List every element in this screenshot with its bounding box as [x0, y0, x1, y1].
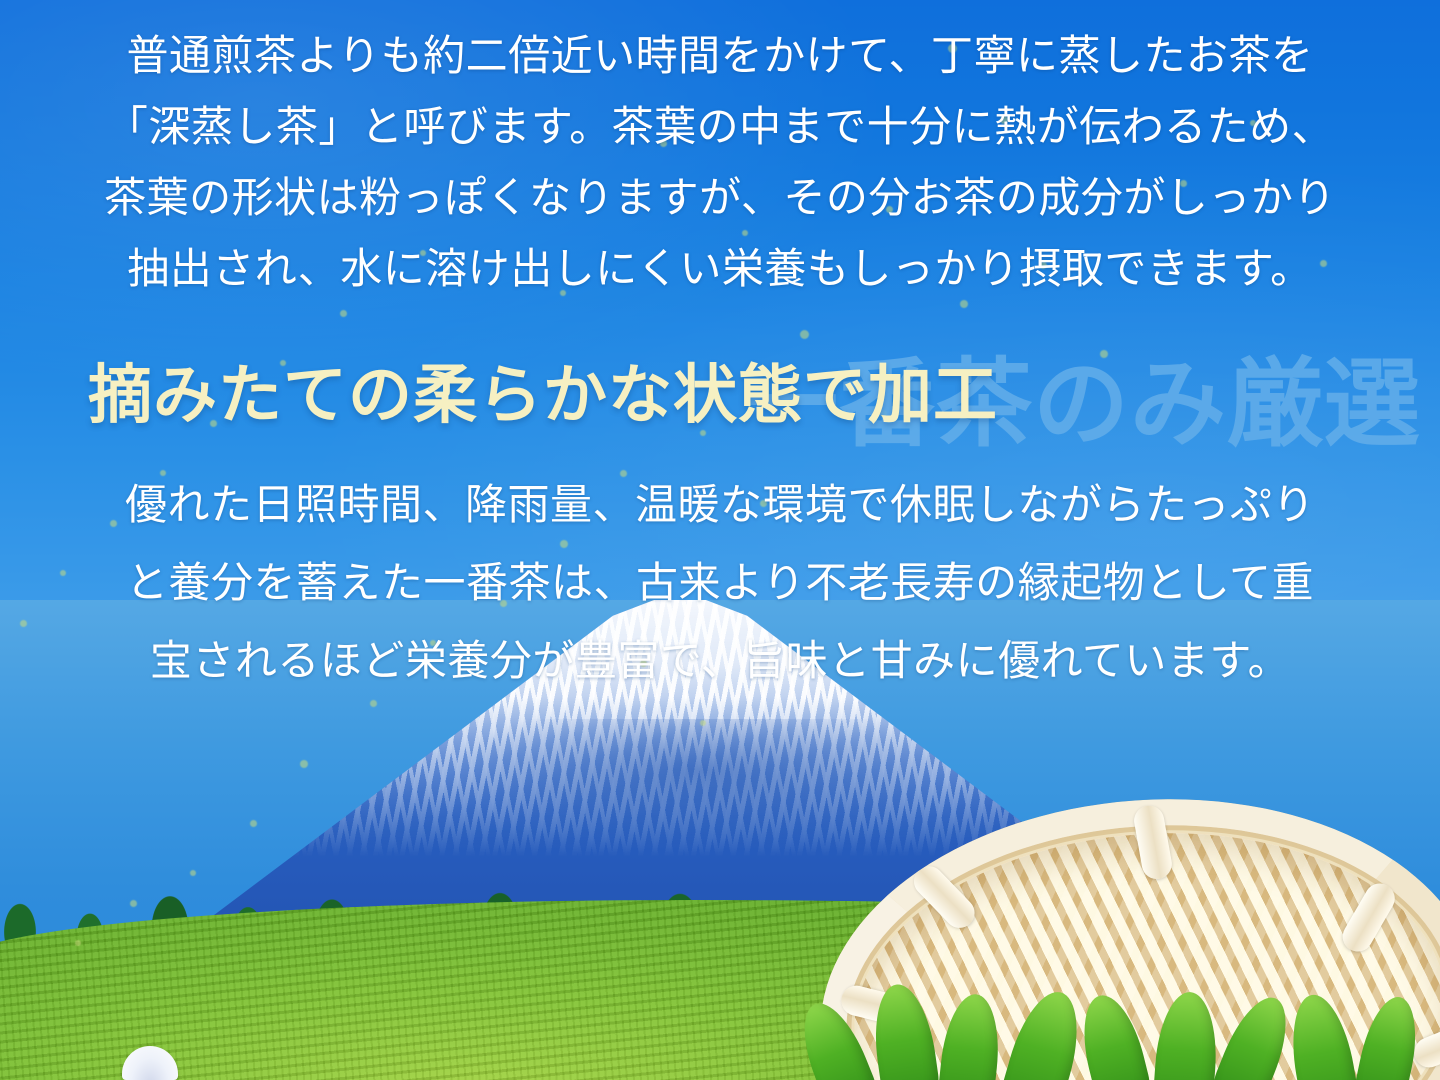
- body-line: 宝されるほど栄養分が豊富で、旨味と甘みに優れています。: [0, 622, 1440, 700]
- intro-line: 抽出され、水に溶け出しにくい栄養もしっかり摂取できます。: [0, 233, 1440, 304]
- body-line: と養分を蓄えた一番茶は、古来より不老長寿の縁起物として重: [0, 544, 1440, 622]
- body-paragraph: 優れた日照時間、降雨量、温暖な環境で休眠しながらたっぷり と養分を蓄えた一番茶は…: [0, 466, 1440, 700]
- intro-line: 普通煎茶よりも約二倍近い時間をかけて、丁寧に蒸したお茶を: [0, 20, 1440, 91]
- body-line: 優れた日照時間、降雨量、温暖な環境で休眠しながらたっぷり: [0, 466, 1440, 544]
- intro-line: 茶葉の形状は粉っぽくなりますが、その分お茶の成分がしっかり: [0, 162, 1440, 233]
- intro-line: 「深蒸し茶」と呼びます。茶葉の中まで十分に熱が伝わるため、: [0, 91, 1440, 162]
- tea-promo-page: 一番茶のみ厳選 普通煎茶よりも約二倍近い時間をかけて、丁寧に蒸したお茶を 「深蒸…: [0, 0, 1440, 1080]
- intro-paragraph: 普通煎茶よりも約二倍近い時間をかけて、丁寧に蒸したお茶を 「深蒸し茶」と呼びます…: [0, 20, 1440, 304]
- text-content: 普通煎茶よりも約二倍近い時間をかけて、丁寧に蒸したお茶を 「深蒸し茶」と呼びます…: [0, 0, 1440, 700]
- section-headline: 摘みたての柔らかな状態で加工: [0, 360, 1440, 432]
